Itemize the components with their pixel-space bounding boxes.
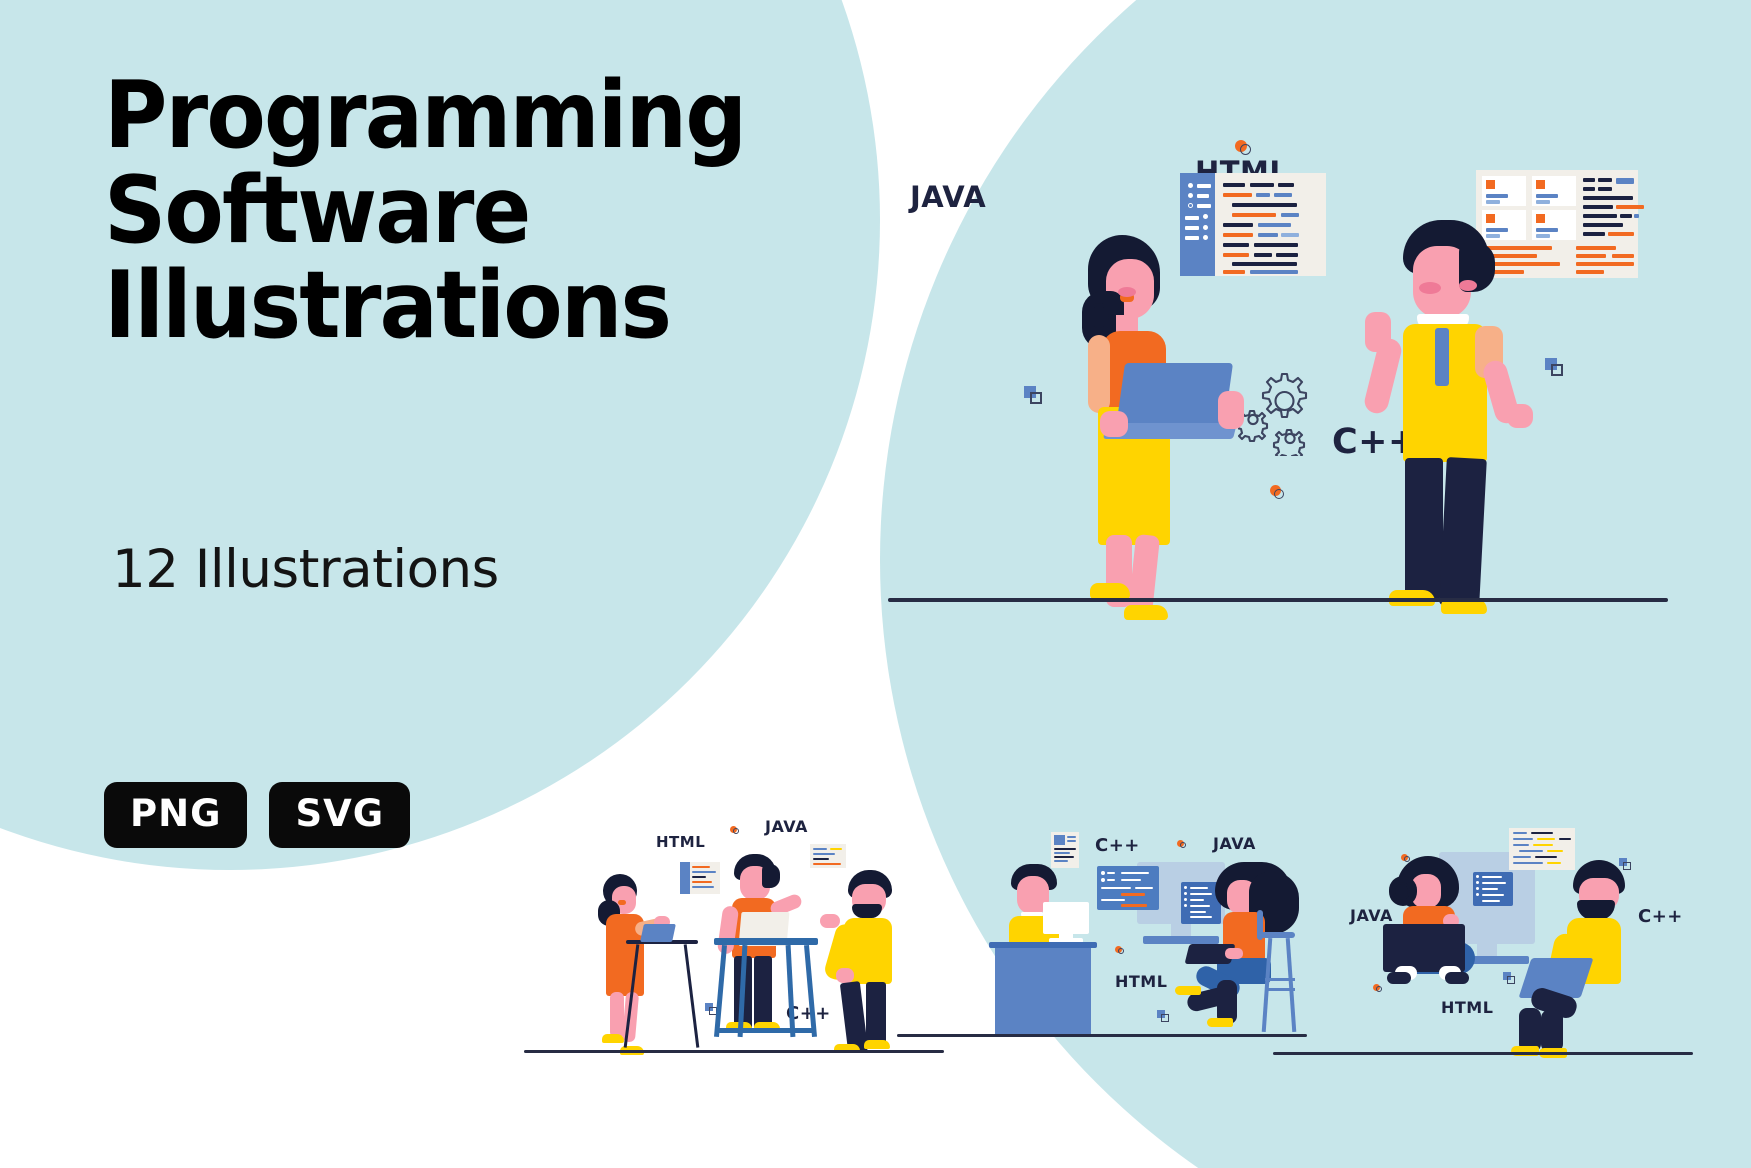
desktop-monitor [1043,902,1089,934]
tag-html: HTML [656,833,705,851]
tag-java: JAVA [910,180,986,214]
illustration-hero-two-developers[interactable]: JAVA HTML C++ [980,140,1680,620]
blue-square-deco [1157,1010,1171,1024]
code-card-small [680,862,720,894]
orange-ring-deco [1177,840,1189,852]
illustration-casual-workspace[interactable]: JAVA C++ HTML [1335,820,1680,1065]
character-man-pointing [1355,220,1585,610]
tag-html: HTML [1441,998,1493,1017]
tag-java: JAVA [765,817,808,836]
code-panel-overlay [1097,866,1159,910]
code-card-small [1051,832,1079,868]
format-badge-group: PNG SVG [104,782,410,848]
orange-ring-deco [1235,140,1255,160]
tag-html: HTML [1115,972,1167,991]
character-woman-crosslegged [1381,856,1511,990]
png-badge[interactable]: PNG [104,782,247,848]
page-title: Programming Software Illustrations [104,68,867,353]
laptop [1383,924,1465,972]
tag-cpp: C++ [1095,835,1140,856]
blue-square-deco [1024,386,1046,408]
code-card-wide [810,844,846,868]
character-bearded-man-beanbag [1533,860,1673,1050]
tag-java: JAVA [1213,834,1256,853]
laptop [640,924,676,942]
orange-ring-deco [1270,485,1290,505]
blue-table [714,938,818,945]
illustration-office-desk-and-stool[interactable]: C++ JAVA HTML [985,820,1305,1060]
orange-ring-deco [730,826,742,838]
character-woman-orange-dress [590,874,670,1054]
illustration-three-developers-at-desk[interactable]: HTML JAVA C++ [590,800,940,1055]
poster-canvas: Programming Software Illustrations 12 Il… [0,0,1751,1168]
page-subtitle: 12 Illustrations [112,539,499,600]
character-woman-with-laptop [1060,235,1260,605]
orange-ring-deco [1115,946,1127,958]
svg-badge[interactable]: SVG [269,782,410,848]
character-woman-on-stool [1211,862,1311,1038]
character-man-yellow-sweater [830,870,918,1056]
